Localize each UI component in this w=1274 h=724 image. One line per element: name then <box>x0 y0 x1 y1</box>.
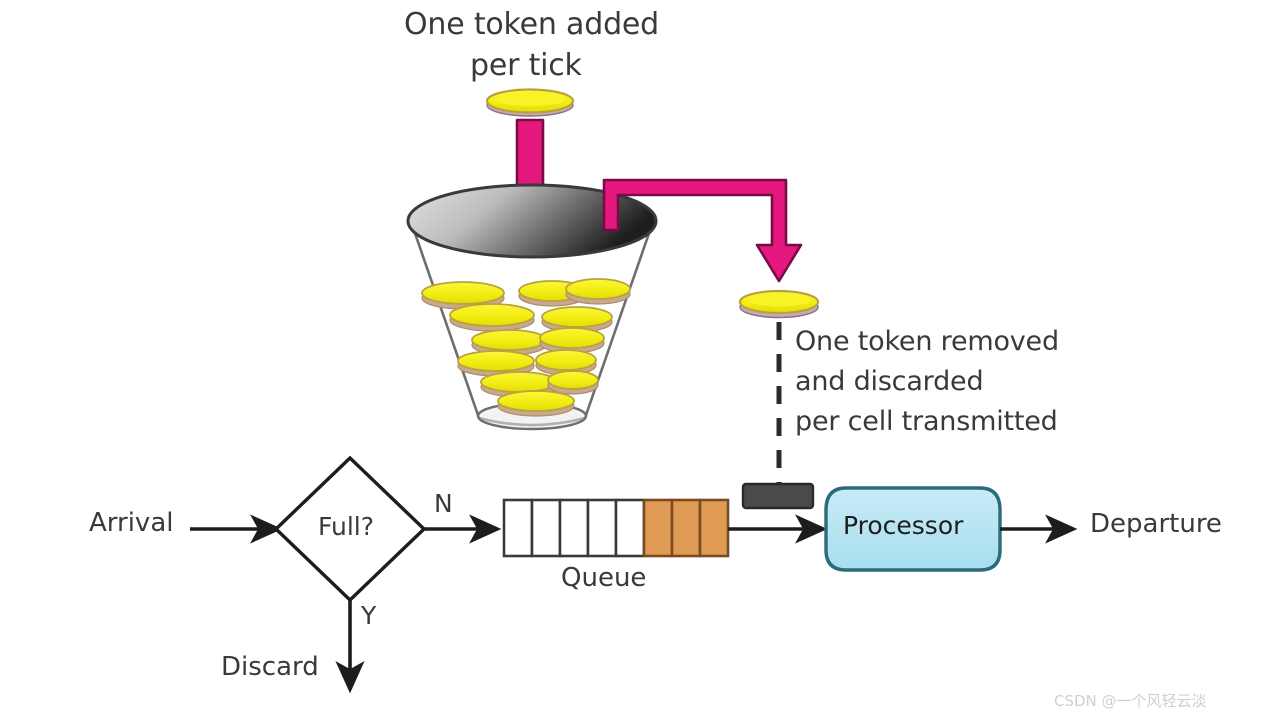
branch-no-label: N <box>434 489 453 518</box>
departure-label: Departure <box>1090 509 1222 539</box>
processor-label: Processor <box>843 511 963 540</box>
token-added-label-line2: per tick <box>470 49 582 84</box>
branch-yes-label: Y <box>361 601 376 630</box>
token-disc-source <box>487 90 573 117</box>
token-disc-removed <box>740 291 818 318</box>
full-decision-label: Full? <box>318 512 374 541</box>
token-added-label-line1: One token added <box>404 8 659 43</box>
arrival-label: Arrival <box>89 508 173 538</box>
queue-cells <box>504 500 728 556</box>
discard-label: Discard <box>221 652 319 682</box>
queue-label: Queue <box>561 563 646 593</box>
token-removed-label: One token removed and discarded per cell… <box>795 322 1059 442</box>
diagram-canvas: One token added per tick One token remov… <box>0 0 1274 724</box>
gate-bar <box>743 484 813 508</box>
csdn-watermark: CSDN @一个风轻云淡 <box>1054 690 1207 711</box>
token-bucket-diagram <box>0 0 1274 724</box>
